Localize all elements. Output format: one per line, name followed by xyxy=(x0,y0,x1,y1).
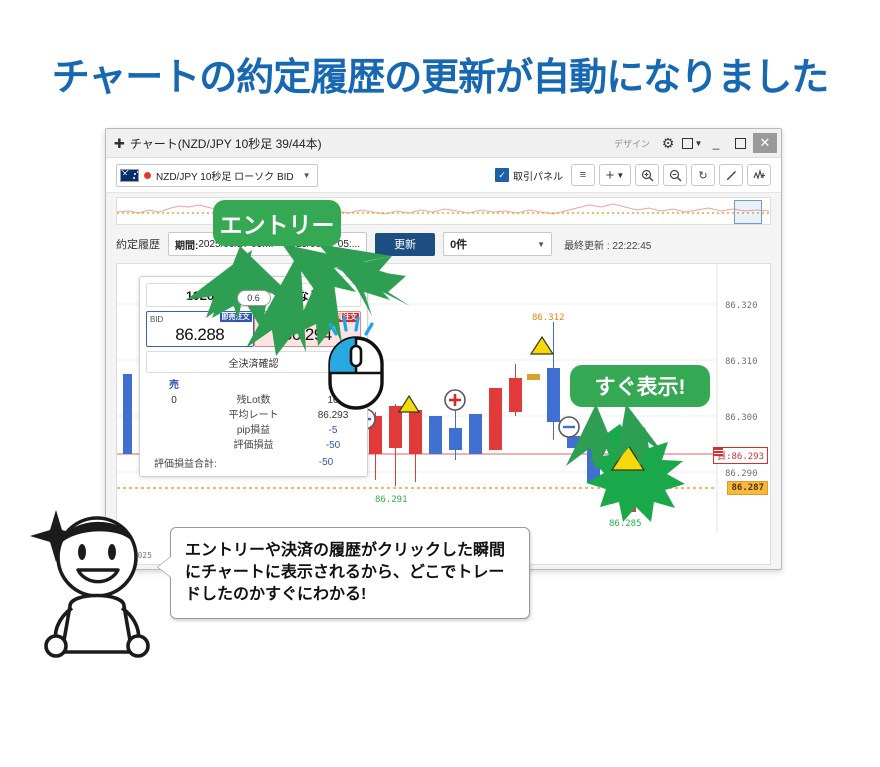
row-buy-value: 10 xyxy=(305,393,361,408)
update-button[interactable]: 更新 xyxy=(375,233,435,256)
table-row: pip損益 -5 xyxy=(146,423,361,438)
row-label: 平均レート xyxy=(202,408,305,423)
close-all-button[interactable]: 全決済確認 xyxy=(146,351,361,373)
total-label: 評価損益合計: xyxy=(146,455,217,470)
svg-text:86.285: 86.285 xyxy=(609,519,642,529)
spread-value: 0.6 xyxy=(237,290,271,306)
current-price-text: 買:86.293 xyxy=(717,449,764,462)
chevron-down-icon: ▼ xyxy=(537,240,545,249)
minimize-icon[interactable]: _ xyxy=(705,133,727,153)
svg-text:86.290: 86.290 xyxy=(725,469,758,479)
total-row: 評価損益合計: -50 xyxy=(146,455,361,470)
row-sell-value: 0 xyxy=(146,393,202,408)
price-chart[interactable]: 86.320 86.310 86.300 86.290 xyxy=(116,263,771,565)
trade-panel-checkbox[interactable]: ✓ 取引パネル xyxy=(495,168,563,183)
last-update-label: 最終更新 : 22:22:45 xyxy=(564,237,651,252)
symbol-label: NZD/JPY 10秒足 ローソク BID xyxy=(156,168,294,183)
red-dot-icon xyxy=(144,172,151,179)
buy-column-header: 買 xyxy=(305,378,361,393)
row-buy-value: -5 xyxy=(305,423,361,438)
reference-price-tag: 86.287 xyxy=(727,481,768,495)
refresh-icon[interactable]: ↻ xyxy=(691,164,715,186)
bid-price: 86.288 xyxy=(147,325,253,345)
trade-panel-label: 取引パネル xyxy=(513,168,563,183)
bid-label: BID xyxy=(150,315,163,324)
table-row: 評価損益 -50 xyxy=(146,438,361,453)
period-prefix: 期間: xyxy=(175,237,198,252)
callout-instant: すぐ表示! xyxy=(570,365,710,407)
table-row: 平均レート 86.293 xyxy=(146,408,361,423)
row-buy-value: -50 xyxy=(305,438,361,453)
current-price-tag: 買:86.293 xyxy=(713,447,768,464)
position-summary: 売 買 0 残Lot数 10 平均レート 86.293 pip損益 xyxy=(146,378,361,470)
svg-text:86.310: 86.310 xyxy=(725,357,758,367)
sell-column-header: 売 xyxy=(146,378,202,393)
svg-text:86.312: 86.312 xyxy=(532,313,565,323)
layout-dropdown-icon[interactable]: ▼ xyxy=(681,133,703,153)
row-label: pip損益 xyxy=(202,423,305,438)
zoom-out-icon[interactable] xyxy=(663,164,687,186)
nz-flag-icon xyxy=(120,169,139,182)
zoom-in-icon[interactable] xyxy=(635,164,659,186)
overview-selection-handle[interactable] xyxy=(734,200,762,224)
sell-order-badge: 即売注文 xyxy=(220,313,252,322)
svg-text:86.320: 86.320 xyxy=(725,301,758,311)
design-label[interactable]: デザイン xyxy=(614,137,650,150)
history-label: 約定履歴 xyxy=(116,236,160,252)
row-label: 評価損益 xyxy=(202,438,305,453)
chart-window: ✚ チャート(NZD/JPY 10秒足 39/44本) デザイン ⚙ ▼ _ ✕… xyxy=(105,128,782,570)
svg-text:86.300: 86.300 xyxy=(725,413,758,423)
close-icon[interactable]: ✕ xyxy=(753,133,777,153)
add-indicator-icon[interactable]: +▼ xyxy=(599,164,631,186)
draw-pencil-icon[interactable] xyxy=(719,164,743,186)
ask-price: 86.294 xyxy=(255,325,361,345)
trade-history-bar: 約定履歴 期間: 2025/09/27 05:... – 2025/09/27 … xyxy=(106,225,781,263)
chevron-down-icon: ▼ xyxy=(303,171,311,180)
svg-text:86.291: 86.291 xyxy=(375,495,408,505)
ask-quote-button[interactable]: ASK 即買注文 86.294 xyxy=(254,311,362,347)
count-select[interactable]: 0件 ▼ xyxy=(443,232,552,256)
trade-panel[interactable]: 10Lot 両建なし 決済なし BID 即売注文 86.288 ASK 即買注文… xyxy=(139,276,368,477)
table-row: 0 残Lot数 10 xyxy=(146,393,361,408)
symbol-select[interactable]: NZD/JPY 10秒足 ローソク BID ▼ xyxy=(116,164,318,187)
chart-toolbar: NZD/JPY 10秒足 ローソク BID ▼ ✓ 取引パネル ≡ +▼ ↻ xyxy=(106,158,781,193)
speech-bubble: エントリーや決済の履歴がクリックした瞬間にチャートに表示されるから、どこでトレー… xyxy=(170,527,530,619)
ask-label: ASK xyxy=(258,315,274,324)
order-tag-icon xyxy=(714,448,723,456)
bid-quote-button[interactable]: BID 即売注文 86.288 xyxy=(146,311,254,347)
summary-header-row: 売 買 xyxy=(146,378,361,393)
page-title: チャートの約定履歴の更新が自動になりました xyxy=(0,46,880,101)
gear-icon[interactable]: ⚙ xyxy=(657,133,679,153)
total-value: -50 xyxy=(291,457,361,468)
window-titlebar[interactable]: ✚ チャート(NZD/JPY 10秒足 39/44本) デザイン ⚙ ▼ _ ✕ xyxy=(106,129,781,158)
checkbox-checked-icon: ✓ xyxy=(495,168,509,182)
callout-entry: エントリー xyxy=(213,200,341,246)
move-icon[interactable]: ✚ xyxy=(114,137,125,150)
row-buy-value: 86.293 xyxy=(305,408,361,423)
indicator-wave-icon[interactable] xyxy=(747,164,771,186)
maximize-icon[interactable] xyxy=(729,133,751,153)
buy-order-badge: 即買注文 xyxy=(327,313,359,322)
chart-style-icon[interactable]: ≡ xyxy=(571,164,595,186)
row-label: 残Lot数 xyxy=(202,393,305,408)
count-value: 0件 xyxy=(450,236,467,252)
window-title: チャート(NZD/JPY 10秒足 39/44本) xyxy=(130,135,322,152)
chart-time-label: : 2025 xyxy=(123,551,152,560)
